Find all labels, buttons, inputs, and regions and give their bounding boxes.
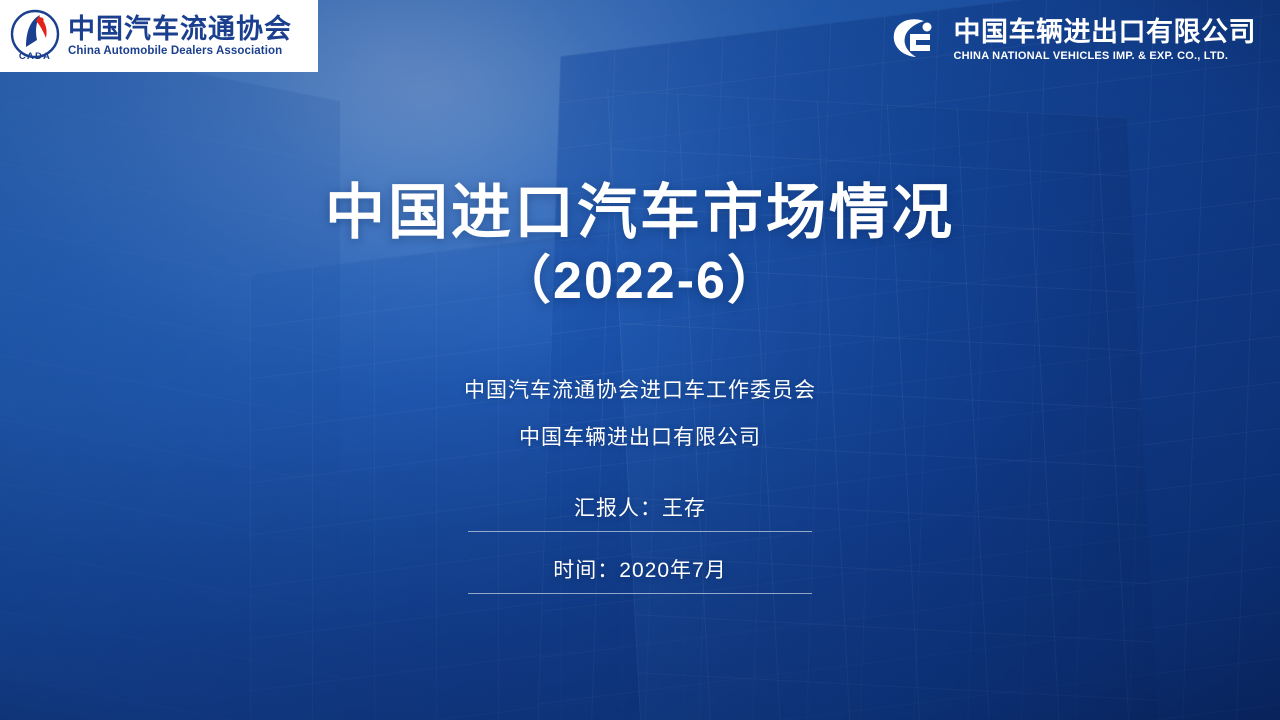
organization-block: 中国汽车流通协会进口车工作委员会 中国车辆进出口有限公司: [0, 380, 1280, 474]
cada-logo-text: 中国汽车流通协会 China Automobile Dealers Associ…: [68, 15, 292, 57]
presenter-text: 汇报人：王存: [574, 497, 706, 520]
title-block: 中国进口汽车市场情况 （2022-6）: [0, 178, 1280, 314]
date-text: 时间：2020年7月: [553, 559, 726, 582]
presentation-slide: CADA 中国汽车流通协会 China Automobile Dealers A…: [0, 0, 1280, 720]
cnv-logo-text: 中国车辆进出口有限公司 CHINA NATIONAL VEHICLES IMP.…: [954, 18, 1257, 63]
cada-logo-cn: 中国汽车流通协会: [68, 15, 292, 43]
slide-subtitle-period: （2022-6）: [0, 249, 1280, 314]
organization-line-2: 中国车辆进出口有限公司: [0, 427, 1280, 448]
organization-line-1: 中国汽车流通协会进口车工作委员会: [0, 380, 1280, 401]
presenter-underline: [468, 531, 812, 532]
cada-emblem-icon: CADA: [6, 7, 64, 65]
cnv-logo: 中国车辆进出口有限公司 CHINA NATIONAL VEHICLES IMP.…: [886, 14, 1257, 66]
cnv-logo-cn: 中国车辆进出口有限公司: [954, 18, 1257, 48]
meta-block: 汇报人：王存 时间：2020年7月: [490, 492, 790, 616]
cnv-logo-en: CHINA NATIONAL VEHICLES IMP. & EXP. CO.,…: [954, 50, 1257, 62]
cada-logo-en: China Automobile Dealers Association: [68, 45, 292, 57]
cnv-emblem-icon: [886, 14, 944, 66]
slide-title: 中国进口汽车市场情况: [0, 178, 1280, 249]
date-underline: [468, 593, 812, 594]
presenter-row: 汇报人：王存: [490, 492, 790, 532]
date-row: 时间：2020年7月: [490, 554, 790, 594]
cada-logo: CADA 中国汽车流通协会 China Automobile Dealers A…: [0, 0, 318, 72]
svg-text:CADA: CADA: [19, 51, 51, 62]
